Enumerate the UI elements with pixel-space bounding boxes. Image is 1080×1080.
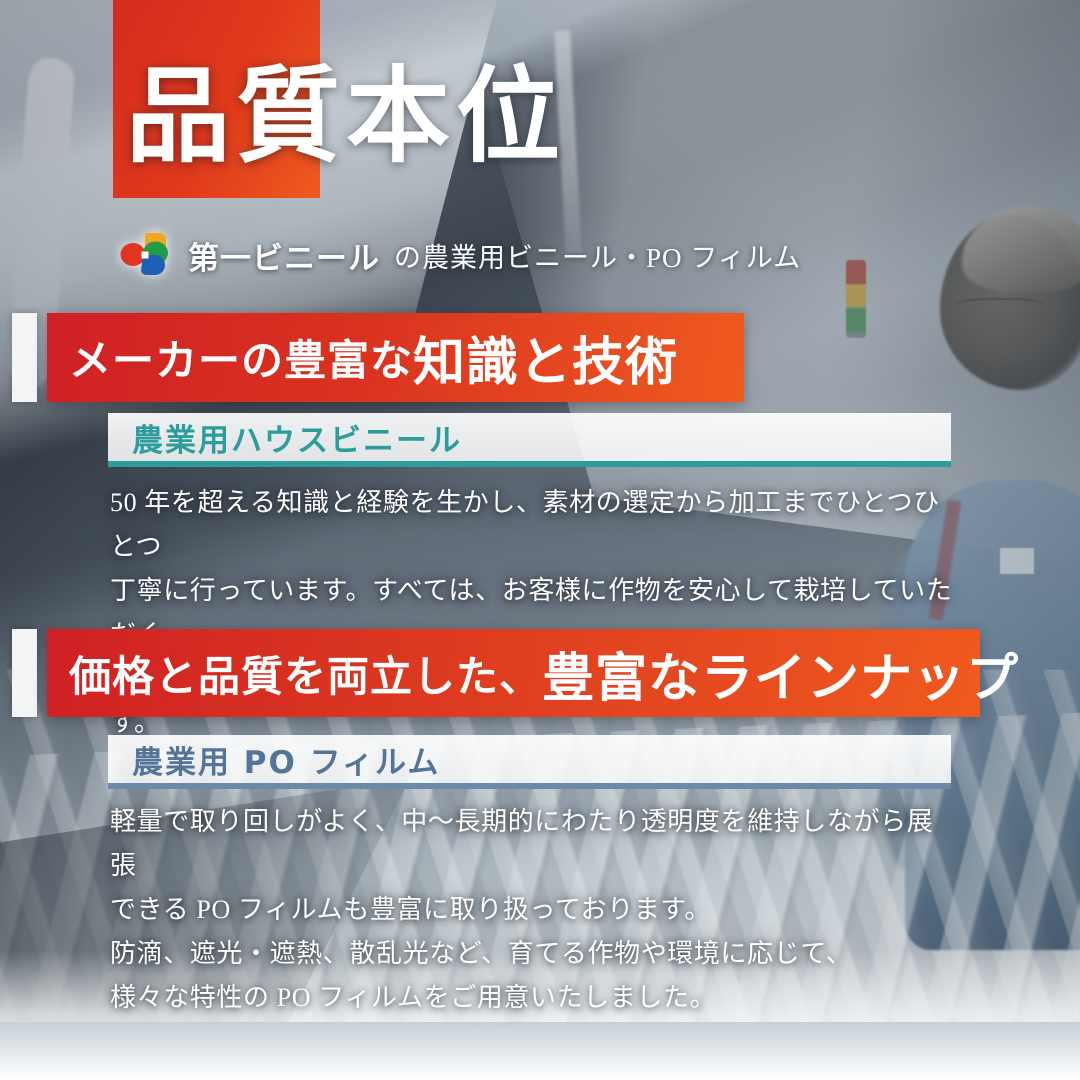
body-line: 様々な特性の PO フィルムをご用意いたしました。 bbox=[110, 976, 955, 1020]
subheading-house-vinyl-label: 農業用ハウスビニール bbox=[132, 415, 462, 460]
section-banner-lineup: 価格と品質を両立した、 豊富なラインナップ bbox=[47, 629, 980, 717]
pinwheel-flower-logo-icon bbox=[116, 226, 174, 284]
subheading-po-film: 農業用 PO フィルム bbox=[108, 735, 951, 789]
subheading-po-film-label: 農業用 PO フィルム bbox=[132, 737, 440, 782]
body-line: できる PO フィルムも豊富に取り扱っております。 bbox=[110, 888, 955, 932]
section-banner-knowledge-strong: 知識と技術 bbox=[413, 320, 678, 395]
brand-tagline: 第一ビニール の農業用ビニール・PO フィルム bbox=[116, 226, 801, 284]
body-line: 軽量で取り回しがよく、中〜長期的にわたり透明度を維持しながら展張 bbox=[110, 800, 955, 888]
section-banner-lineup-lead: 価格と品質を両立した、 bbox=[69, 643, 542, 704]
body-copy-po-film: 軽量で取り回しがよく、中〜長期的にわたり透明度を維持しながら展張 できる PO … bbox=[110, 800, 955, 1020]
section-banner-lineup-strong: 豊富なラインナップ bbox=[542, 636, 1019, 711]
page-title: 品質本位 bbox=[126, 66, 566, 170]
tagline-text: の農業用ビニール・PO フィルム bbox=[394, 236, 801, 275]
body-line: 防滴、遮光・遮熱、散乱光など、育てる作物や環境に応じて、 bbox=[110, 932, 955, 976]
body-line: 50 年を超える知識と経験を生かし、素材の選定から加工までひとつひとつ bbox=[110, 481, 955, 569]
section-banner-knowledge: メーカーの豊富な 知識と技術 bbox=[47, 313, 744, 402]
brand-name: 第一ビニール bbox=[188, 233, 380, 278]
accent-bar-lineup bbox=[12, 629, 37, 717]
promotional-banner: 品質本位 第一ビニール の農業用ビニール・PO フィルム bbox=[0, 0, 1080, 1080]
section-banner-knowledge-lead: メーカーの豊富な bbox=[69, 327, 413, 388]
subheading-house-vinyl: 農業用ハウスビニール bbox=[108, 413, 951, 467]
accent-bar-knowledge bbox=[12, 313, 37, 402]
